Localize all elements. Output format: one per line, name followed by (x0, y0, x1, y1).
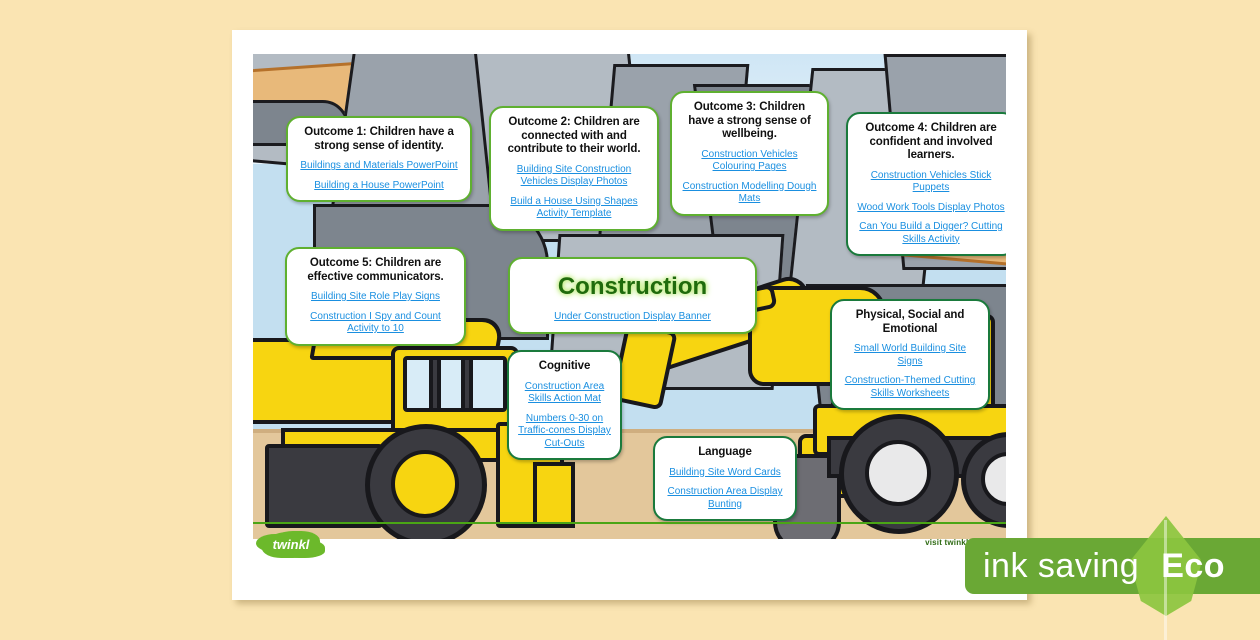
card-link[interactable]: Can You Build a Digger? Cutting Skills A… (857, 221, 1005, 246)
card-physical-social-emotional[interactable]: Physical, Social and Emotional Small Wor… (830, 299, 990, 410)
card-link[interactable]: Building Site Construction Vehicles Disp… (500, 164, 648, 189)
card-outcome-1[interactable]: Outcome 1: Children have a strong sense … (286, 116, 472, 202)
card-heading: Outcome 1: Children have a strong sense … (297, 126, 461, 153)
card-heading: Outcome 4: Children are confident and in… (857, 122, 1005, 163)
card-link[interactable]: Wood Work Tools Display Photos (857, 202, 1005, 215)
page-footer: twinkl visit twinkl.com.au (253, 524, 1006, 586)
card-link[interactable]: Construction Area Skills Action Mat (518, 381, 611, 406)
card-link[interactable]: Construction Area Display Bunting (664, 486, 786, 511)
card-cognitive[interactable]: Cognitive Construction Area Skills Actio… (507, 350, 622, 460)
page-title: Construction (519, 273, 746, 301)
card-heading: Outcome 3: Children have a strong sense … (681, 101, 818, 142)
card-heading: Cognitive (518, 360, 611, 374)
card-link[interactable]: Construction Vehicles Stick Puppets (857, 170, 1005, 195)
card-link[interactable]: Small World Building Site Signs (841, 343, 979, 368)
card-outcome-2[interactable]: Outcome 2: Children are connected with a… (489, 106, 659, 231)
ink-saving-eco-watermark: ink savingEco (965, 538, 1260, 594)
card-link[interactable]: Building Site Word Cards (664, 467, 786, 480)
construction-scene-illustration: Outcome 1: Children have a strong sense … (253, 54, 1006, 539)
worksheet-page: Outcome 1: Children have a strong sense … (232, 30, 1027, 600)
card-link[interactable]: Construction Vehicles Colouring Pages (681, 149, 818, 174)
eco-text: Eco (1161, 547, 1225, 585)
card-heading: Outcome 2: Children are connected with a… (500, 116, 648, 157)
eco-label: ink savingEco (983, 538, 1225, 594)
card-link[interactable]: Build a House Using Shapes Activity Temp… (500, 196, 648, 221)
card-link[interactable]: Numbers 0-30 on Traffic-cones Display Cu… (518, 413, 611, 451)
card-heading: Physical, Social and Emotional (841, 309, 979, 336)
card-main-banner[interactable]: Construction Under Construction Display … (508, 257, 757, 334)
twinkl-logo: twinkl (265, 532, 317, 558)
card-link[interactable]: Buildings and Materials PowerPoint (297, 160, 461, 173)
card-link[interactable]: Construction I Spy and Count Activity to… (296, 311, 455, 336)
ink-saving-text: ink saving (983, 547, 1139, 585)
card-outcome-5[interactable]: Outcome 5: Children are effective commun… (285, 247, 466, 346)
card-outcome-3[interactable]: Outcome 3: Children have a strong sense … (670, 91, 829, 216)
card-heading: Outcome 5: Children are effective commun… (296, 257, 455, 284)
card-link[interactable]: Construction-Themed Cutting Skills Works… (841, 375, 979, 400)
card-outcome-4[interactable]: Outcome 4: Children are confident and in… (846, 112, 1006, 256)
card-heading: Language (664, 446, 786, 460)
banner-link[interactable]: Under Construction Display Banner (519, 311, 746, 324)
card-language[interactable]: Language Building Site Word Cards Constr… (653, 436, 797, 521)
card-link[interactable]: Building a House PowerPoint (297, 180, 461, 193)
card-link[interactable]: Construction Modelling Dough Mats (681, 181, 818, 206)
footer-divider (253, 522, 1006, 524)
card-link[interactable]: Building Site Role Play Signs (296, 291, 455, 304)
